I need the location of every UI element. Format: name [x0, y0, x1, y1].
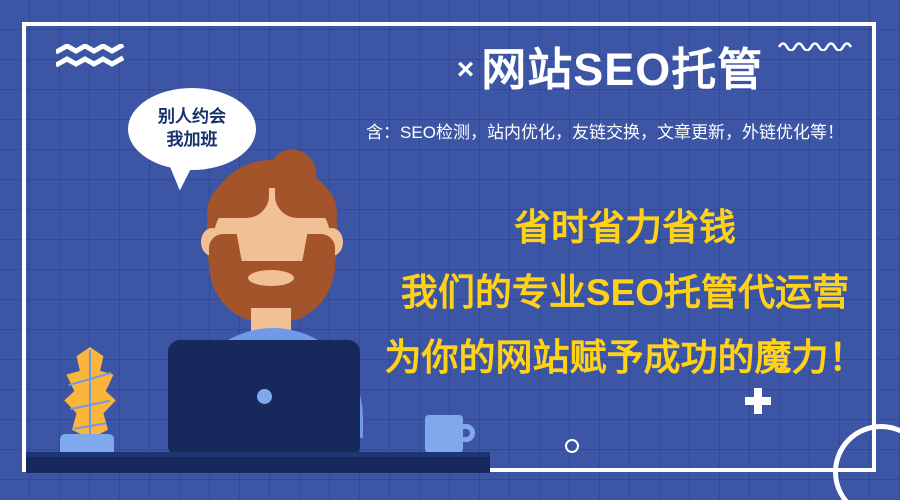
circle-outline-icon: [565, 439, 579, 453]
large-circle-outline-icon: [833, 424, 900, 500]
hair-fringe-right: [275, 178, 337, 218]
mouth: [248, 270, 294, 286]
laptop-logo-icon: [257, 389, 272, 404]
seo-hosting-banner: ×网站SEO托管 含：SEO检测，站内优化，友链交换，文章更新，外链优化等！ 省…: [0, 0, 900, 500]
slogan-line-1: 省时省力省钱: [370, 197, 880, 251]
speech-bubble-line-2: 我加班: [167, 129, 218, 152]
speech-bubble-line-1: 别人约会: [158, 106, 226, 129]
wave-lines-icon: [56, 44, 126, 75]
desk-edge: [26, 452, 490, 457]
slogan-line-3: 为你的网站赋予成功的魔力！: [370, 327, 880, 381]
page-subtitle: 含：SEO检测，站内优化，友链交换，文章更新，外链优化等！: [320, 118, 890, 143]
slogan-line-2: 我们的专业SEO托管代运营: [370, 262, 880, 316]
page-title: ×网站SEO托管: [330, 46, 890, 95]
mug: [425, 415, 463, 455]
page-title-text: 网站SEO托管: [481, 44, 763, 95]
hair-fringe-left: [207, 178, 269, 218]
x-mark-icon: ×: [457, 53, 476, 86]
plus-icon: [745, 388, 771, 414]
